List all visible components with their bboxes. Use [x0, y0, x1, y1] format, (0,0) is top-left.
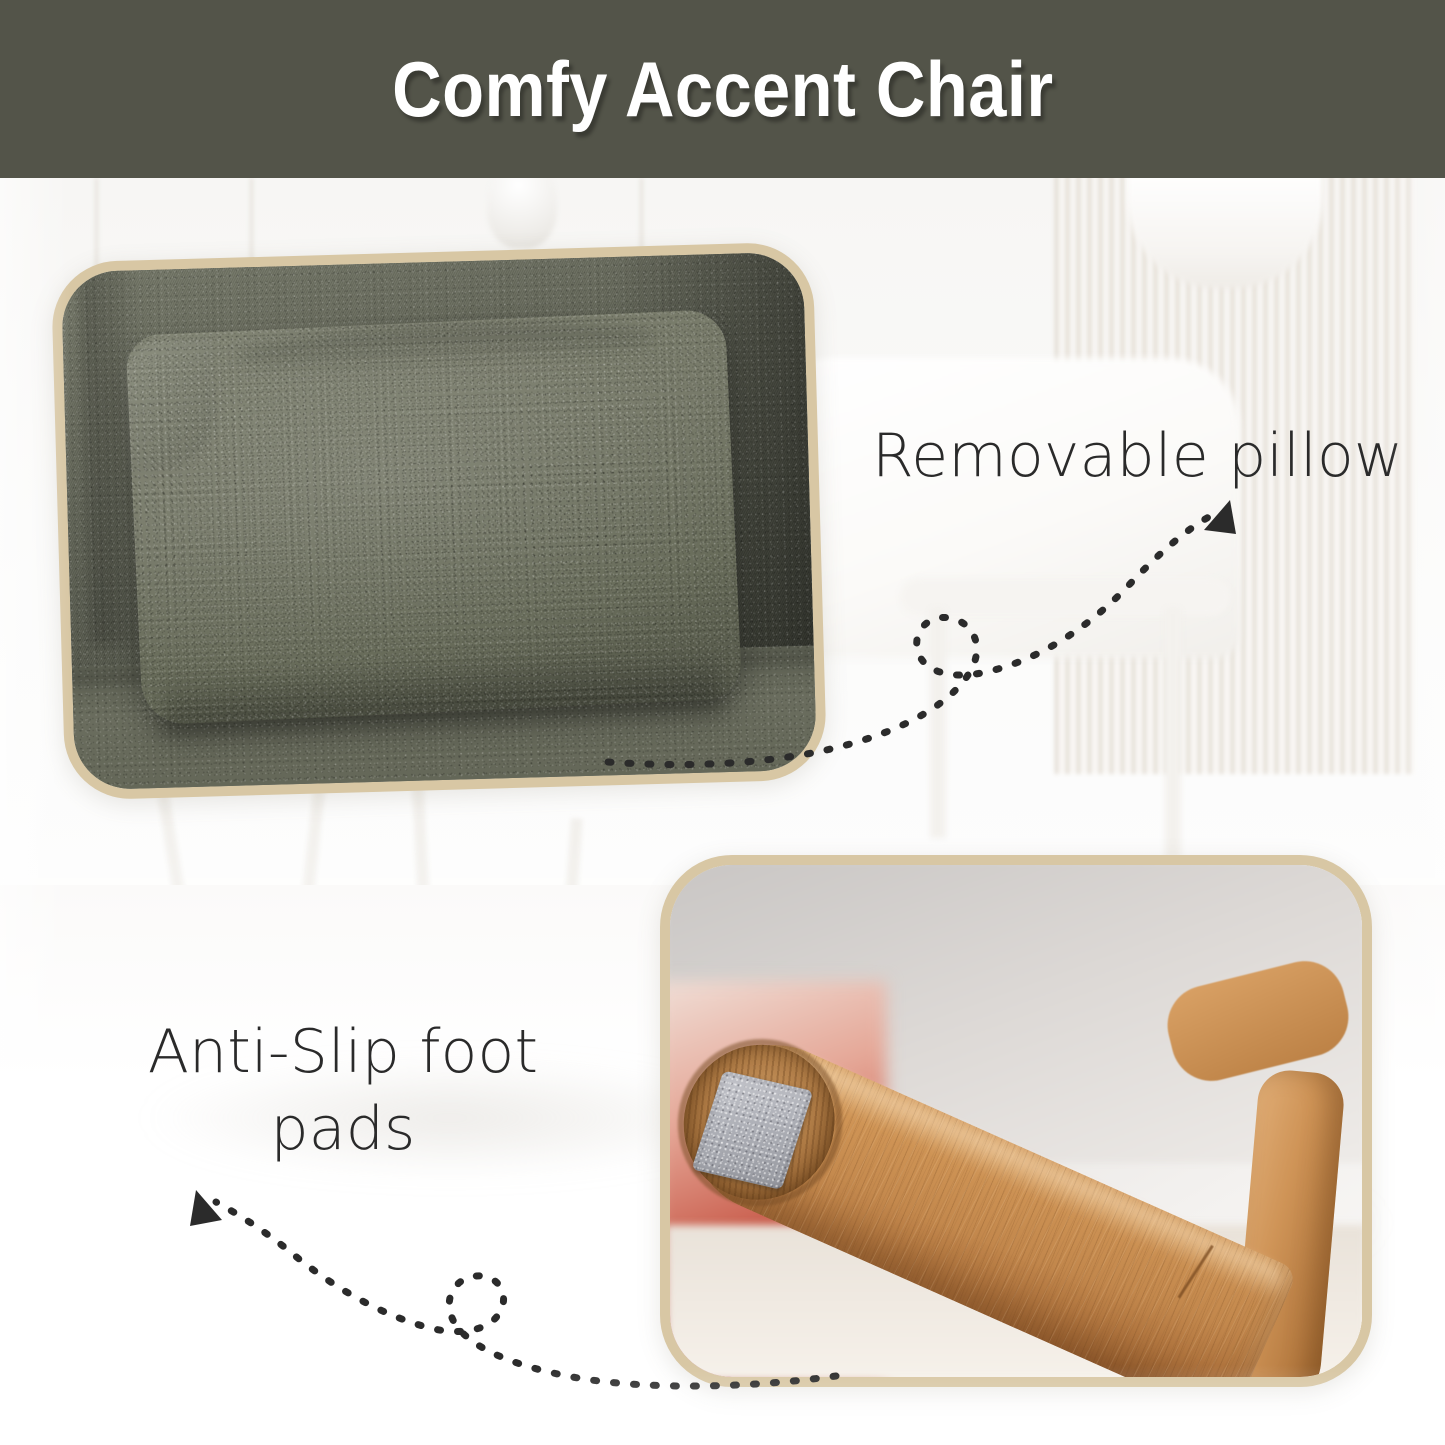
header-banner: Comfy Accent Chair — [0, 0, 1445, 178]
arrow-to-pillow-label — [600, 500, 1300, 830]
label-line-1: Anti-Slip foot — [128, 1014, 558, 1091]
page-title: Comfy Accent Chair — [392, 44, 1053, 135]
infographic-stage: Comfy Accent Chair — [0, 0, 1445, 1445]
pendant-lamp — [487, 178, 557, 248]
arrow-dashed-path — [608, 514, 1214, 765]
label-line-2: pads — [128, 1091, 558, 1168]
pillow-corner — [122, 338, 218, 472]
arrow-to-pads-label — [150, 1190, 850, 1420]
label-anti-slip-foot-pads: Anti-Slip foot pads — [128, 1014, 558, 1168]
arrow-dashed-path — [216, 1202, 836, 1386]
arrow-head-icon — [190, 1190, 222, 1226]
label-removable-pillow: Removable pillow — [872, 418, 1403, 495]
